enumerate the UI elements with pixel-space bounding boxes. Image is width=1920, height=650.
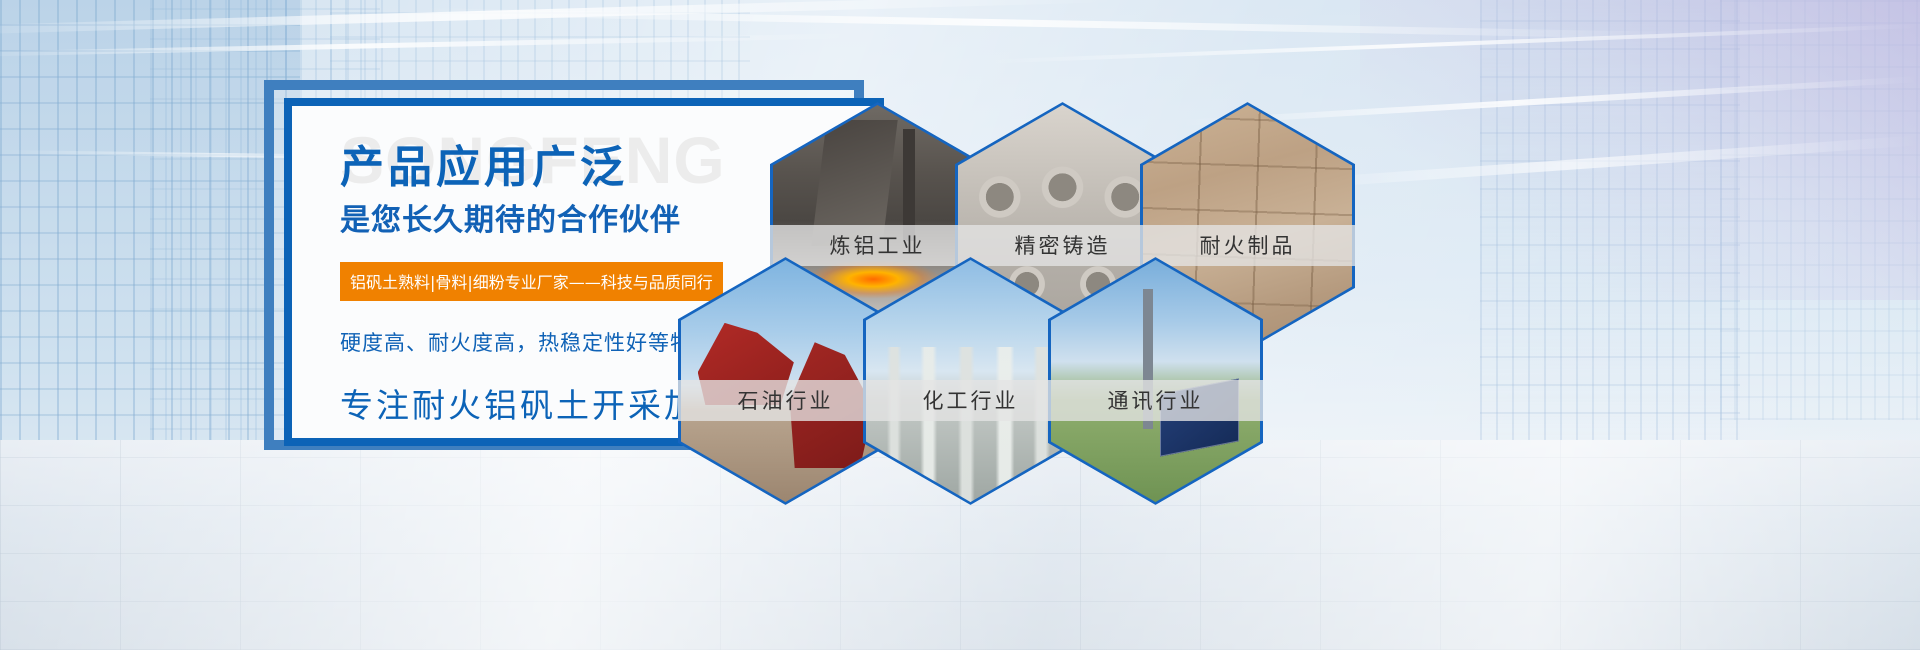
industry-hexagon-cluster: 炼铝工业 精密铸造 耐火制品 石油行业: [700, 72, 1380, 542]
light-streak-icon: [980, 24, 1919, 64]
glass-tower-right-2-icon: [1720, 0, 1920, 420]
promotional-banner: SONGFENG 产品应用广泛 是您长久期待的合作伙伴 铝矾土熟料|骨料|细粉专…: [0, 0, 1920, 650]
glass-tower-right-icon: [1480, 0, 1740, 470]
hexagon-label: 化工行业: [863, 380, 1078, 421]
hexagon-label: 精密铸造: [955, 225, 1170, 266]
hexagon-label: 通讯行业: [1048, 380, 1263, 421]
light-streak-icon: [0, 33, 860, 57]
light-streak-icon: [0, 0, 1120, 35]
tagline-badge: 铝矾土熟料|骨料|细粉专业厂家——科技与品质同行: [340, 262, 723, 301]
hexagon-label: 耐火制品: [1140, 225, 1355, 266]
glass-facade-left-icon: [0, 0, 300, 650]
purple-glow-overlay: [1360, 0, 1920, 300]
hexagon-label: 炼铝工业: [770, 225, 985, 266]
light-streak-icon: [420, 8, 1680, 39]
hexagon-label: 石油行业: [678, 380, 893, 421]
